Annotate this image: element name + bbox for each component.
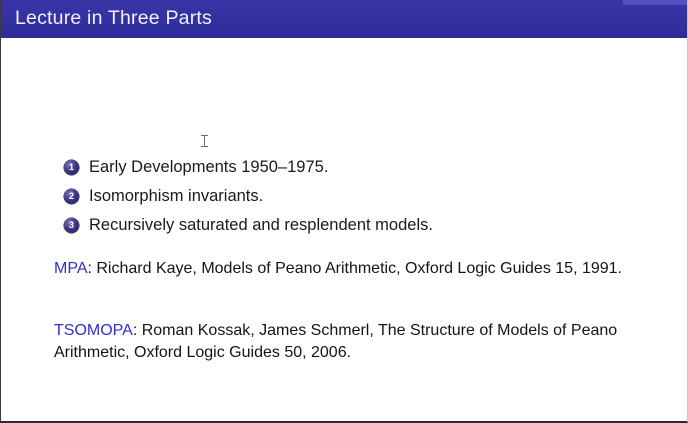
reference-citation-mpa: Richard Kaye, Models of Peano Arithmetic… — [96, 260, 622, 277]
list-number-badge-2: 2 — [64, 189, 79, 204]
list-item: 1 Early Developments 1950–1975. — [64, 156, 624, 182]
i-beam-cursor-icon — [200, 134, 209, 148]
slide-content: 1 Early Developments 1950–1975. 2 Isomor… — [2, 38, 686, 421]
reference-entry-mpa: MPA: Richard Kaye, Models of Peano Arith… — [54, 258, 634, 280]
enumerated-list: 1 Early Developments 1950–1975. 2 Isomor… — [64, 156, 624, 243]
list-item-label-3: Recursively saturated and resplendent mo… — [89, 214, 624, 237]
list-number-badge-3: 3 — [64, 218, 79, 233]
list-item-label-1: Early Developments 1950–1975. — [89, 156, 624, 179]
slide-title-bar: Lecture in Three Parts — [1, 0, 688, 38]
i-beam-cursor-stem — [204, 136, 205, 146]
reference-key-tsomopa: TSOMOPA — [54, 322, 133, 339]
page-title: Lecture in Three Parts — [15, 5, 212, 32]
reference-entry-tsomopa: TSOMOPA: Roman Kossak, James Schmerl, Th… — [54, 320, 634, 363]
slide-frame: Lecture in Three Parts 1 Early Developme… — [0, 0, 688, 423]
list-item-label-2: Isomorphism invariants. — [89, 185, 624, 208]
list-item: 2 Isomorphism invariants. — [64, 185, 624, 211]
i-beam-cursor-cap-bottom — [201, 146, 208, 147]
title-bar-accent-stripe — [623, 0, 688, 5]
i-beam-cursor-cap-top — [201, 135, 208, 136]
reference-key-mpa: MPA — [54, 260, 87, 277]
list-item: 3 Recursively saturated and resplendent … — [64, 214, 624, 240]
list-number-badge-1: 1 — [64, 160, 79, 175]
reference-separator-tsomopa: : — [133, 322, 142, 339]
